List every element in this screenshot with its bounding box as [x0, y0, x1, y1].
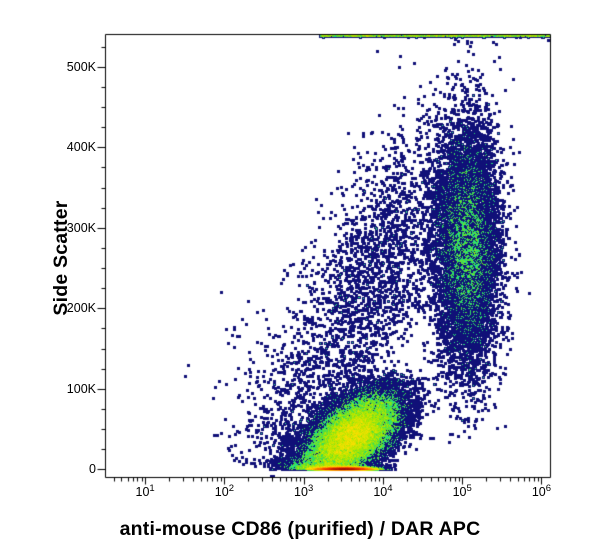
x-axis-title: anti-mouse CD86 (purified) / DAR APC	[0, 518, 600, 541]
y-tick-label: 300K	[30, 221, 96, 235]
y-tick-label: 0	[30, 462, 96, 476]
y-tick-label: 100K	[30, 382, 96, 396]
y-tick-label: 400K	[30, 140, 96, 154]
y-tick-label: 200K	[30, 301, 96, 315]
y-tick-label: 500K	[30, 60, 96, 74]
x-tick-label: 103	[294, 485, 313, 499]
x-tick-label: 106	[532, 485, 551, 499]
flow-cytometry-figure: Side Scatter anti-mouse CD86 (purified) …	[0, 0, 600, 556]
x-tick-label: 102	[215, 485, 234, 499]
x-tick-label: 104	[373, 485, 392, 499]
x-tick-label: 101	[136, 485, 155, 499]
x-tick-label: 105	[453, 485, 472, 499]
